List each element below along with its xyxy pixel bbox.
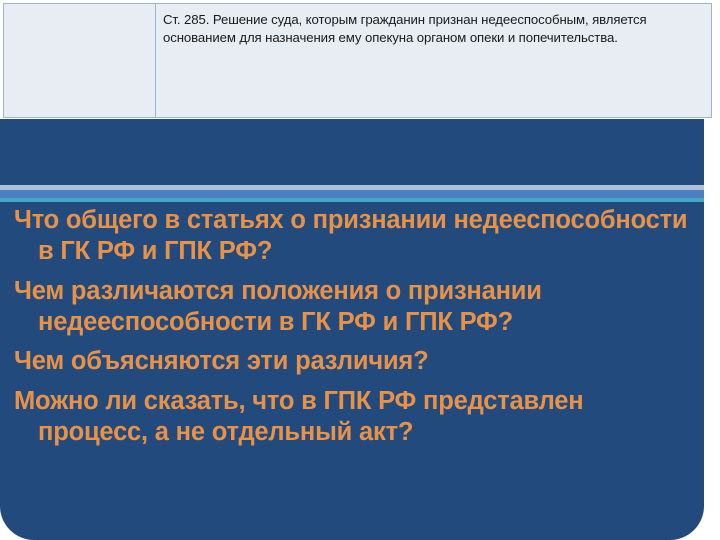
list-item: Чем объясняются эти различия? xyxy=(14,346,692,377)
bullet-list: Что общего в статьях о признании недеесп… xyxy=(0,205,704,457)
table-cell-right: Ст. 285. Решение суда, которым гражданин… xyxy=(156,4,711,117)
list-item: Что общего в статьях о признании недеесп… xyxy=(14,205,692,268)
content-panel: Что общего в статьях о признании недеесп… xyxy=(0,119,704,540)
list-item: Чем различаются положения о признании не… xyxy=(14,276,692,339)
slide: Ст. 285. Решение суда, которым гражданин… xyxy=(0,0,720,540)
list-item: Можно ли сказать, что в ГПК РФ представл… xyxy=(14,386,692,449)
content-table: Ст. 285. Решение суда, которым гражданин… xyxy=(3,3,712,118)
decorative-stripe-band xyxy=(0,185,704,202)
table-cell-right-text: Ст. 285. Решение суда, которым гражданин… xyxy=(163,11,703,47)
table-cell-left xyxy=(4,4,156,117)
stripe-teal xyxy=(0,198,704,202)
stripe-blue xyxy=(0,190,704,198)
